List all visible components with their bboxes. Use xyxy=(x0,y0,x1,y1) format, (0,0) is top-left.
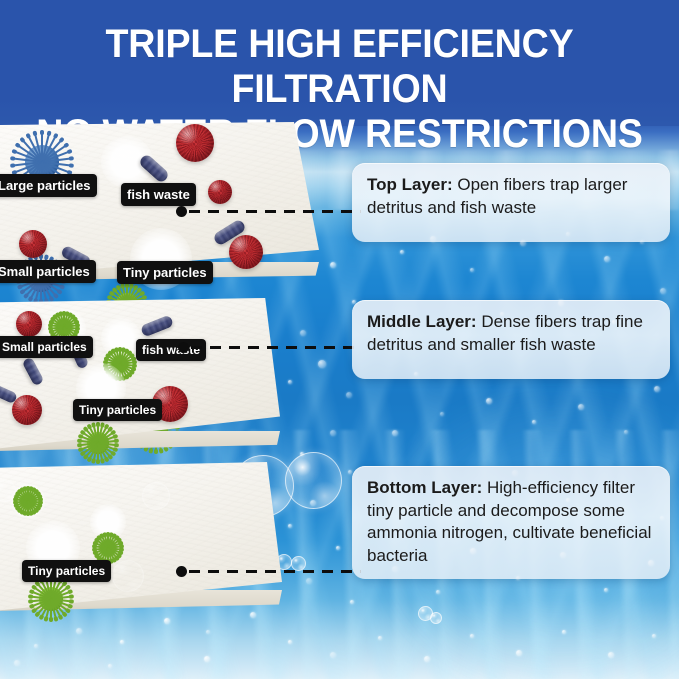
particle-label-pill: Tiny particles xyxy=(117,261,213,284)
middle-pad-surface xyxy=(0,298,280,450)
middle-filter-pad: Small particlesfish wasteTiny particles xyxy=(0,298,280,450)
small-particle-red xyxy=(176,124,214,162)
middle-pad-fiber-texture xyxy=(0,298,280,450)
particle-label-pill: fish waste xyxy=(121,183,196,206)
bubble-small-d xyxy=(430,612,442,624)
connector-dot xyxy=(176,566,187,577)
connector-dashed-line xyxy=(191,346,361,349)
connector-dashed-line xyxy=(189,570,361,573)
infographic-canvas: TRIPLE HIGH EFFICIENCY FILTRATION NO WAT… xyxy=(0,0,679,679)
connector-bottom-layer xyxy=(176,565,361,577)
tiny-particle-green xyxy=(79,424,117,462)
small-particle-red xyxy=(229,235,263,269)
particle-label-pill: Tiny particles xyxy=(22,560,111,582)
bottom-filter-pad: Tiny particles xyxy=(0,462,282,612)
small-particle-red xyxy=(12,395,42,425)
particle-label-pill: Small particles xyxy=(0,336,93,358)
pad-bubble xyxy=(142,482,170,510)
callout-middle-layer[interactable]: Middle Layer: Dense fibers trap fine det… xyxy=(352,300,670,379)
small-particle-red xyxy=(19,230,47,258)
title-line-1: TRIPLE HIGH EFFICIENCY FILTRATION xyxy=(105,22,573,111)
callout-middle-label: Middle Layer: xyxy=(367,312,477,331)
top-filter-pad: Large particlesfish wasteSmall particles… xyxy=(0,122,319,278)
pad-bubble xyxy=(112,560,144,592)
connector-middle-layer xyxy=(178,341,361,353)
tiny-particle-green xyxy=(30,578,72,620)
particle-label-pill: Small particles xyxy=(0,260,96,283)
bubble-large-right xyxy=(285,452,342,509)
connector-dot xyxy=(176,206,187,217)
small-particle-red xyxy=(208,180,232,204)
particle-label-pill: Tiny particles xyxy=(73,399,162,421)
small-particle-red xyxy=(16,311,42,337)
connector-dashed-line xyxy=(189,210,361,213)
tiny-particle-green xyxy=(94,534,122,562)
callout-bottom-layer[interactable]: Bottom Layer: High-efficiency filter tin… xyxy=(352,466,670,579)
particle-label-pill: Large particles xyxy=(0,174,97,197)
callout-top-layer[interactable]: Top Layer: Open fibers trap larger detri… xyxy=(352,163,670,242)
connector-dot xyxy=(178,342,189,353)
callout-top-label: Top Layer: xyxy=(367,175,453,194)
header-banner: TRIPLE HIGH EFFICIENCY FILTRATION NO WAT… xyxy=(0,0,679,126)
callout-bottom-label: Bottom Layer: xyxy=(367,478,482,497)
tiny-particle-green xyxy=(15,488,41,514)
connector-top-layer xyxy=(176,205,361,217)
